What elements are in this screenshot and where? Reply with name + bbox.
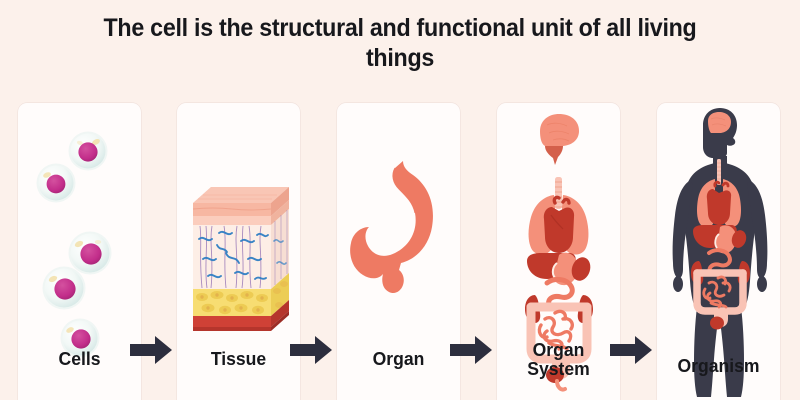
stage-label-tissue: Tissue: [180, 349, 297, 368]
stage-label-cells: Cells: [21, 349, 138, 368]
body-silhouette: [673, 108, 768, 397]
stage-label-organism: Organism: [660, 356, 777, 375]
stage-panel-organism[interactable]: Organism: [657, 103, 780, 400]
right-arrow-icon: [288, 333, 334, 367]
stage-panel-organ[interactable]: Organ: [337, 103, 460, 400]
stomach-shape: [350, 161, 433, 293]
stage-panel-organ-system[interactable]: Organ System: [497, 103, 620, 400]
organization-levels-strip: Cells: [0, 103, 800, 400]
page-title: The cell is the structural and functiona…: [75, 14, 726, 73]
brain-organ: [708, 112, 731, 133]
right-arrow-icon: [448, 333, 494, 367]
stage-label-organ: Organ: [340, 349, 457, 368]
right-arrow-icon: [128, 333, 174, 367]
stage-panel-cells[interactable]: Cells: [18, 103, 141, 400]
cell-shape: [43, 267, 86, 310]
stage-label-organ-system: Organ System: [500, 340, 617, 378]
stage-panel-tissue[interactable]: Tissue: [177, 103, 300, 400]
right-arrow-icon: [608, 333, 654, 367]
cell-shape: [69, 232, 112, 275]
cell-shape: [69, 132, 108, 171]
brain-organ: [540, 114, 579, 165]
cell-shape: [37, 164, 76, 203]
